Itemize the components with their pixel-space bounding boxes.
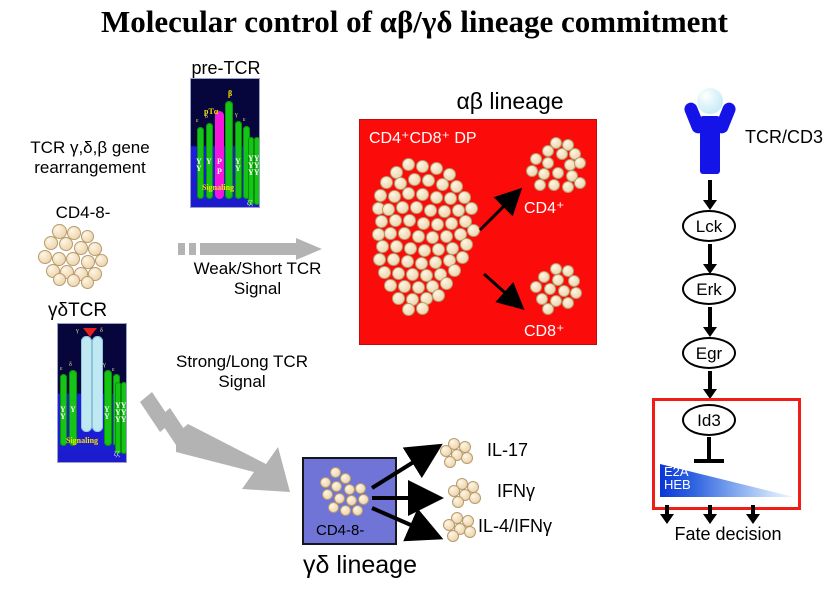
cell bbox=[444, 456, 456, 468]
cell bbox=[53, 273, 66, 286]
cell bbox=[469, 492, 481, 504]
heb-label: HEB bbox=[664, 478, 691, 491]
gene-rearrangement-line1: TCR γ,δ,β gene bbox=[10, 138, 170, 158]
node-erk-label: Erk bbox=[696, 281, 722, 298]
ab-lineage-box: CD4⁺CD8⁺ DP CD4⁺ CD8⁺ bbox=[359, 119, 597, 345]
pretcr-label-gamma: γ bbox=[235, 112, 238, 118]
cell bbox=[95, 254, 108, 267]
itam-icon: YY bbox=[60, 406, 66, 420]
ab-lineage-heading: αβ lineage bbox=[400, 88, 620, 115]
cell bbox=[59, 237, 73, 251]
page-title: Molecular control of αβ/γδ lineage commi… bbox=[0, 4, 829, 40]
strong-signal-line2: Signal bbox=[152, 372, 332, 392]
gene-rearrangement-text: TCR γ,δ,β gene rearrangement bbox=[10, 138, 170, 178]
dn-cells-label: CD4-8- bbox=[18, 203, 148, 223]
gdtcr-chain-gamma-core bbox=[81, 336, 92, 432]
itam-icon: YYYYYY bbox=[115, 402, 127, 423]
cell bbox=[447, 530, 459, 542]
cell bbox=[328, 502, 339, 513]
itam-icon: YY bbox=[235, 158, 241, 172]
cell bbox=[81, 276, 94, 289]
weak-signal-arrow bbox=[178, 238, 338, 260]
gdtcr-label-gamma: γ bbox=[76, 328, 79, 334]
gdtcr-zeta-label: ζζ bbox=[114, 450, 120, 458]
inhibition-stem bbox=[707, 437, 711, 461]
cell bbox=[358, 494, 369, 505]
gdtcr-label-delta-top: δ bbox=[100, 328, 103, 334]
itam-icon: YY bbox=[104, 406, 110, 420]
output-cluster-il4-ifng bbox=[443, 512, 475, 542]
node-lck: Lck bbox=[682, 210, 736, 242]
output-cluster-il17 bbox=[440, 438, 472, 468]
cell bbox=[340, 473, 351, 484]
cell bbox=[44, 236, 58, 250]
gdtcr-chain-delta-core bbox=[92, 336, 103, 432]
gdtcr-label-epsilon-left: ε bbox=[60, 366, 63, 372]
weak-signal-line1: Weak/Short TCR bbox=[170, 259, 345, 279]
gdtcr-label-delta-left: δ bbox=[69, 362, 72, 368]
strong-signal-text: Strong/Long TCR Signal bbox=[152, 352, 332, 392]
strong-signal-line1: Strong/Long TCR bbox=[152, 352, 332, 372]
receptor-ligand-ball bbox=[697, 88, 723, 114]
cell bbox=[464, 526, 476, 538]
fate-arrow-head bbox=[703, 514, 717, 524]
node-id3-label: Id3 bbox=[697, 412, 721, 429]
weak-signal-text: Weak/Short TCR Signal bbox=[170, 259, 345, 299]
itam-icon: YY bbox=[196, 158, 202, 172]
pretcr-label-delta: δ bbox=[205, 114, 208, 120]
pretcr-zeta-label: ζζ bbox=[247, 199, 253, 207]
weak-signal-line2: Signal bbox=[170, 279, 345, 299]
output-label-ifng: IFNγ bbox=[497, 481, 535, 501]
cascade-arrow-shaft bbox=[708, 180, 712, 202]
node-id3: Id3 bbox=[682, 404, 736, 436]
tcr-cd3-receptor-icon bbox=[686, 88, 734, 176]
e2a-heb-labels: E2A HEB bbox=[664, 465, 691, 491]
cell bbox=[344, 484, 355, 495]
dn-cell-cluster bbox=[38, 224, 112, 286]
cascade-arrow-shaft bbox=[708, 307, 712, 329]
cell bbox=[38, 250, 52, 264]
gdtcr-panel: γ δ δ ε γ ε YY Y YY YYYYYY Signaling ζζ bbox=[57, 323, 127, 463]
cascade-arrow-head bbox=[703, 327, 717, 337]
tcr-cd3-label: TCR/CD3 bbox=[745, 127, 823, 148]
cell bbox=[67, 274, 80, 287]
node-lck-label: Lck bbox=[696, 218, 722, 235]
cell bbox=[452, 496, 464, 508]
cell bbox=[461, 452, 473, 464]
itam-icon: Y bbox=[206, 158, 212, 165]
node-egr: Egr bbox=[682, 337, 736, 369]
receptor-stem bbox=[700, 116, 720, 174]
gdtcr-signaling-label: Signaling bbox=[66, 436, 98, 445]
cell bbox=[331, 481, 342, 492]
strong-arrow-svg bbox=[138, 392, 318, 502]
pretcr-phospho-2: P bbox=[217, 167, 222, 176]
output-cluster-ifng bbox=[448, 478, 480, 508]
output-label-il4-ifng: IL-4/IFNγ bbox=[478, 516, 552, 536]
itam-icon: Y bbox=[70, 406, 76, 413]
itam-icon: YYYYYY bbox=[248, 155, 260, 176]
pretcr-signaling-label: Signaling bbox=[202, 183, 234, 192]
gdtcr-title: γδTCR bbox=[48, 301, 138, 321]
fate-arrow-head bbox=[746, 514, 760, 524]
node-egr-label: Egr bbox=[696, 345, 722, 362]
gd-cell-cluster bbox=[318, 467, 374, 521]
gd-box-label: CD4-8- bbox=[316, 521, 364, 541]
output-label-il17: IL-17 bbox=[487, 440, 528, 460]
cascade-arrow-shaft bbox=[708, 371, 712, 391]
inhibition-bar bbox=[694, 459, 724, 463]
fate-decision-label: Fate decision bbox=[648, 524, 808, 545]
cell bbox=[352, 505, 363, 516]
pretcr-label-epsilon-left: ε bbox=[196, 118, 199, 124]
cell bbox=[320, 477, 331, 488]
node-erk: Erk bbox=[682, 273, 736, 305]
cell bbox=[66, 252, 80, 266]
gene-rearrangement-line2: rearrangement bbox=[10, 158, 170, 178]
pretcr-phospho-1: P bbox=[217, 157, 222, 166]
gd-lineage-heading: γδ lineage bbox=[270, 551, 450, 580]
strong-signal-arrow bbox=[138, 392, 318, 502]
fate-arrow-head bbox=[660, 514, 674, 524]
pretcr-label-beta: β bbox=[228, 89, 232, 98]
cell bbox=[355, 483, 366, 494]
cell bbox=[322, 489, 333, 500]
pretcr-panel: pTα β ε δ γ ε YY Y YY YYYYYY P P Signali… bbox=[190, 78, 260, 208]
gdtcr-label-epsilon-right: ε bbox=[112, 367, 115, 373]
cascade-arrow-head bbox=[703, 200, 717, 210]
gdtcr-label-gamma-right: γ bbox=[103, 362, 106, 368]
cell bbox=[340, 505, 351, 516]
pretcr-title: pre-TCR bbox=[190, 58, 262, 78]
pretcr-label-epsilon-right: ε bbox=[243, 117, 246, 123]
ab-internal-arrows bbox=[360, 120, 597, 345]
cascade-arrow-shaft bbox=[708, 244, 712, 266]
